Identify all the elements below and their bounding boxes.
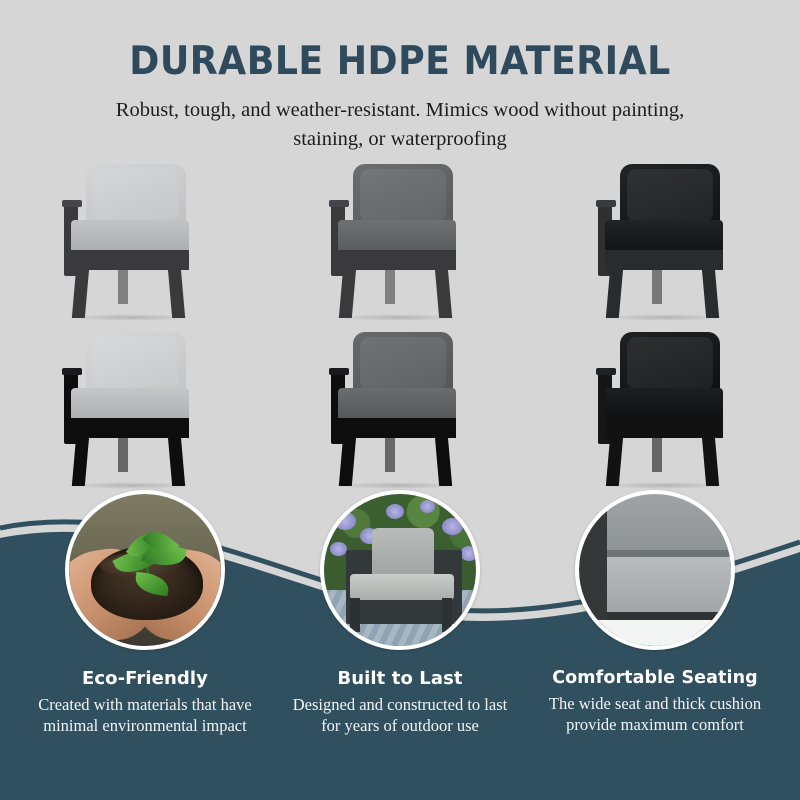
feature-title: Comfortable Seating — [522, 668, 788, 688]
chair-back-cushion — [620, 332, 720, 394]
feature-image-circle — [65, 490, 225, 650]
chair-front-right-leg — [435, 436, 452, 486]
chair-seat-cushion — [71, 388, 189, 420]
chair-back-cushion — [620, 164, 720, 226]
page-subtitle: Robust, tough, and weather-resistant. Mi… — [100, 81, 700, 154]
chair-frame-apron — [71, 418, 189, 438]
feature-description: Created with materials that have minimal… — [38, 695, 253, 737]
infographic-page: DURABLE HDPE MATERIAL Robust, tough, and… — [0, 0, 800, 800]
chair-front-left-leg — [350, 598, 360, 632]
patio-scene — [324, 494, 476, 646]
chair-frame-apron — [338, 250, 456, 270]
chair-armrest-top — [596, 368, 616, 375]
chair-back-leg — [385, 436, 395, 472]
chair-front-right-leg — [442, 598, 452, 632]
hydrangea-flower — [386, 504, 404, 519]
chair-seat-cushion — [338, 220, 456, 252]
chair-back-leg — [385, 268, 395, 304]
chair-row — [0, 156, 800, 326]
chair-armrest-top — [329, 200, 349, 207]
chair-seat-cushion — [605, 220, 723, 252]
cushion-scene — [579, 494, 731, 646]
chair-back-cushion — [353, 332, 453, 394]
chair-back-cushion — [86, 164, 186, 226]
chair-seat-cushion — [605, 388, 723, 420]
chair-row — [0, 324, 800, 494]
chair-cell — [0, 156, 267, 326]
chair-back-cushion — [86, 332, 186, 394]
chair-frame-apron — [71, 250, 189, 270]
chair-frame-apron — [605, 418, 723, 438]
chair-charcoal-frame-medium-gray-cushion — [325, 164, 475, 326]
chair-black-frame-black-cushion — [592, 332, 742, 494]
feature-built-to-last: Built to Last Designed and constructed t… — [267, 490, 533, 737]
chair-back-leg — [118, 436, 128, 472]
feature-comfortable-seating: Comfortable Seating The wide seat and th… — [522, 490, 788, 736]
chair-cell — [533, 156, 800, 326]
feature-image-circle — [320, 490, 480, 650]
chair-back-leg — [652, 436, 662, 472]
header: DURABLE HDPE MATERIAL Robust, tough, and… — [0, 0, 800, 154]
chair-back-leg — [118, 268, 128, 304]
chair-cell — [533, 324, 800, 494]
chair-frame-apron — [338, 418, 456, 438]
chair-armrest-top — [62, 200, 82, 207]
page-title: DURABLE HDPE MATERIAL — [28, 0, 772, 81]
hydrangea-flower — [442, 518, 463, 535]
hydrangea-flower — [420, 500, 435, 513]
chair-front-right-leg — [168, 268, 185, 318]
floor — [579, 620, 731, 646]
hands-holding-seedling-photo — [69, 494, 221, 646]
chair-cell — [267, 156, 534, 326]
outdoor-chair-on-patio-photo — [324, 494, 476, 646]
chair-cell — [0, 324, 267, 494]
chair-armrest-top — [329, 368, 349, 375]
seedling-scene — [69, 494, 221, 646]
chair-seat-cushion — [71, 220, 189, 252]
hydrangea-flower — [330, 542, 347, 556]
feature-title: Eco-Friendly — [12, 668, 278, 689]
chair-charcoal-frame-light-gray-cushion — [58, 164, 208, 326]
chair-frame-apron — [605, 250, 723, 270]
chair-seat-cushion — [350, 574, 454, 600]
feature-list: Eco-Friendly Created with materials that… — [0, 490, 800, 800]
chair-front-right-leg — [168, 436, 185, 486]
chair-front-right-leg — [435, 268, 452, 318]
hydrangea-flower — [334, 512, 356, 530]
chair-gallery — [0, 156, 800, 501]
chair-armrest-top — [62, 368, 82, 375]
chair-front-left-leg — [72, 436, 89, 486]
chair-front-right-leg — [701, 268, 718, 318]
feature-title: Built to Last — [267, 668, 533, 689]
cushion-closeup-photo — [579, 494, 731, 646]
chair-seat-cushion — [338, 388, 456, 420]
chair-cell — [267, 324, 534, 494]
feature-description: The wide seat and thick cushion provide … — [548, 694, 763, 736]
feature-image-circle — [575, 490, 735, 650]
feature-eco-friendly: Eco-Friendly Created with materials that… — [12, 490, 278, 737]
chair-black-frame-medium-gray-cushion — [325, 332, 475, 494]
chair-charcoal-frame-black-cushion — [592, 164, 742, 326]
hydrangea-flower — [460, 546, 476, 561]
chair-back-cushion — [353, 164, 453, 226]
chair-front-right-leg — [701, 436, 718, 486]
chair-armrest-top — [596, 200, 616, 207]
feature-description: Designed and constructed to last for yea… — [293, 695, 508, 737]
chair-black-frame-light-gray-cushion — [58, 332, 208, 494]
chair-front-left-leg — [72, 268, 89, 318]
chair-back-leg — [652, 268, 662, 304]
